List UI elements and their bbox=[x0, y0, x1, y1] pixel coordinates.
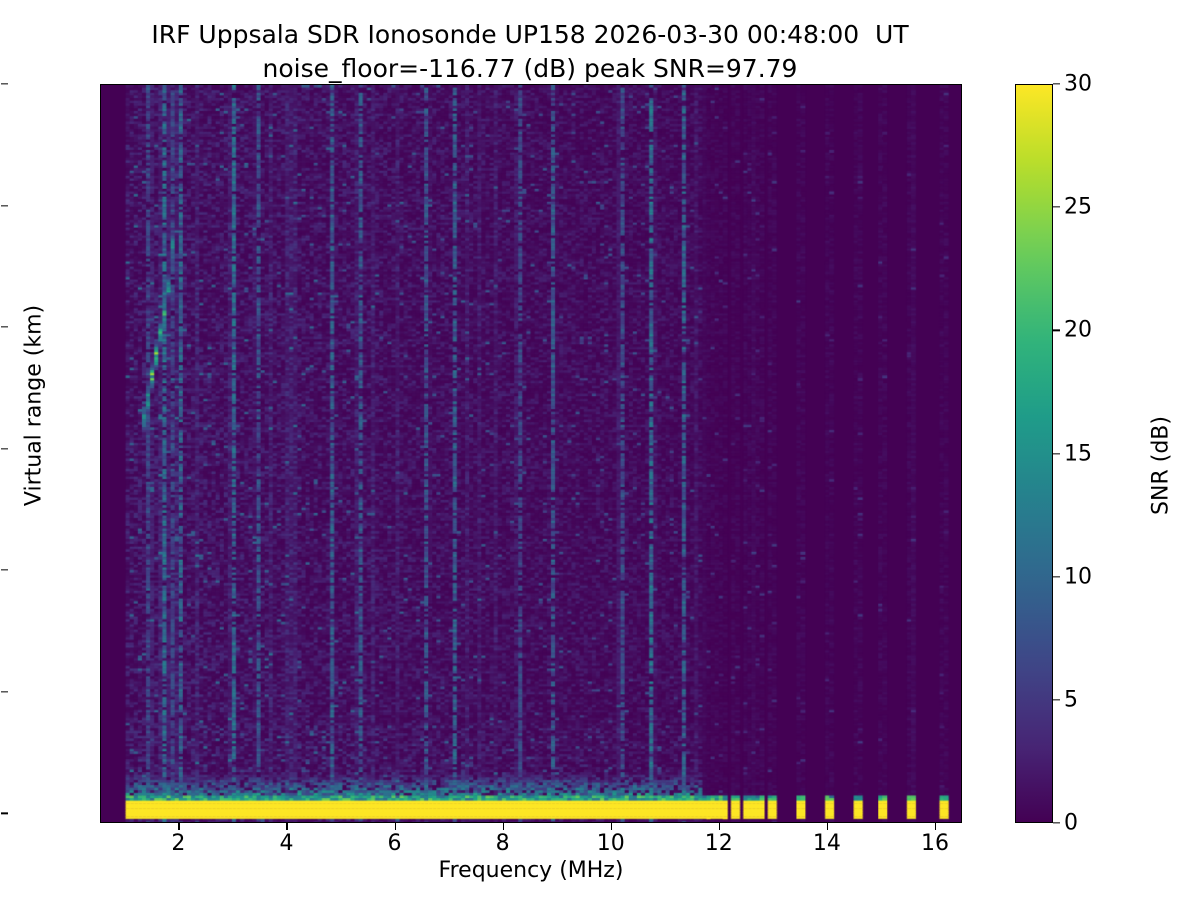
x-tick-mark bbox=[611, 823, 612, 830]
x-tick-label-10: 10 bbox=[597, 831, 625, 856]
x-tick-mark bbox=[503, 823, 504, 830]
x-tick-label-8: 8 bbox=[496, 831, 510, 856]
x-tick-label-12: 12 bbox=[705, 831, 733, 856]
colorbar-tick-mark bbox=[1053, 83, 1060, 84]
x-tick-label-2: 2 bbox=[171, 831, 185, 856]
ionogram-figure: IRF Uppsala SDR Ionosonde UP158 2026-03-… bbox=[0, 0, 1200, 900]
colorbar-tick-mark bbox=[1053, 207, 1060, 208]
colorbar-tick-mark bbox=[1053, 699, 1060, 700]
colorbar-tick-mark bbox=[1053, 453, 1060, 454]
colorbar-tick-mark bbox=[1053, 576, 1060, 577]
colorbar-tick-label-30: 30 bbox=[1064, 72, 1092, 97]
x-axis-label: Frequency (MHz) bbox=[100, 858, 962, 883]
x-tick-label-16: 16 bbox=[921, 831, 949, 856]
colorbar-tick-mark bbox=[1053, 822, 1060, 823]
colorbar-gradient bbox=[1015, 84, 1053, 823]
colorbar-tick-label-20: 20 bbox=[1064, 318, 1092, 343]
x-tick-mark bbox=[178, 823, 179, 830]
x-tick-mark bbox=[827, 823, 828, 830]
x-tick-label-4: 4 bbox=[279, 831, 293, 856]
colorbar-tick-mark bbox=[1053, 330, 1060, 331]
x-tick-mark bbox=[935, 823, 936, 830]
colorbar-tick-label-0: 0 bbox=[1064, 811, 1078, 836]
colorbar[interactable] bbox=[1015, 84, 1053, 823]
colorbar-tick-label-15: 15 bbox=[1064, 441, 1092, 466]
x-tick-mark bbox=[286, 823, 287, 830]
x-tick-mark bbox=[395, 823, 396, 830]
x-tick-mark bbox=[719, 823, 720, 830]
colorbar-tick-label-25: 25 bbox=[1064, 195, 1092, 220]
x-tick-label-14: 14 bbox=[813, 831, 841, 856]
colorbar-tick-label-5: 5 bbox=[1064, 687, 1078, 712]
x-tick-label-6: 6 bbox=[388, 831, 402, 856]
colorbar-tick-label-10: 10 bbox=[1064, 564, 1092, 589]
colorbar-label: SNR (dB) bbox=[1149, 116, 1174, 816]
